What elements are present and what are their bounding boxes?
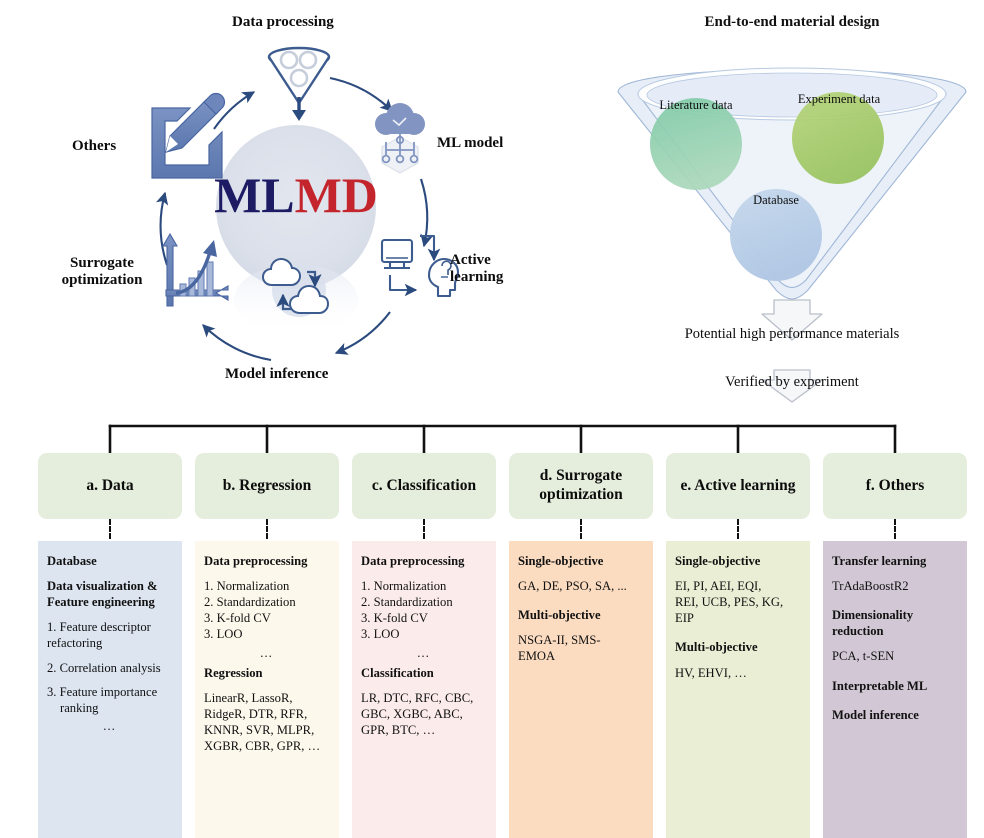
column-d-header[interactable]: d. Surrogate optimization	[509, 453, 653, 519]
column-c-body: Data preprocessing 1. Normalization 2. S…	[352, 541, 496, 838]
column-b-body: Data preprocessing 1. Normalization 2. S…	[195, 541, 339, 838]
column-f-heading-interpretable: Interpretable ML	[832, 678, 958, 694]
mlmd-cycle-panel: MLMD Data processing ML model Active lea…	[0, 0, 600, 412]
column-b-models-2: RidgeR, DTR, RFR,	[204, 706, 330, 722]
column-c-connector	[423, 519, 425, 539]
column-a-data[interactable]: a. Data Database Data visualization & Fe…	[38, 453, 182, 519]
column-a-heading-visualization: Data visualization & Feature engineering	[47, 578, 173, 610]
column-b-models-4: XGBR, CBR, GPR, …	[204, 738, 330, 754]
mlmd-md-text: MD	[295, 167, 378, 223]
column-a-item-3: 3. Feature importance	[47, 684, 173, 700]
column-c-prep-4: 3. LOO	[361, 626, 487, 642]
column-e-body: Single-objective EI, PI, AEI, EQI, REI, …	[666, 541, 810, 838]
mlmd-ml-text: ML	[214, 167, 295, 223]
cycle-label-ml-model: ML model	[437, 135, 503, 152]
column-c-classification[interactable]: c. Classification Data preprocessing 1. …	[352, 453, 496, 519]
column-f-heading-model-inference: Model inference	[832, 707, 958, 723]
column-e-single-1: EI, PI, AEI, EQI,	[675, 578, 801, 594]
optimization-curve-icon	[163, 234, 228, 306]
column-a-item-1: 1. Feature descriptor refactoring	[47, 619, 173, 651]
column-a-heading-database: Database	[47, 553, 173, 569]
column-c-header[interactable]: c. Classification	[352, 453, 496, 519]
column-c-heading-classification: Classification	[361, 665, 487, 681]
column-c-prep-2: 2. Standardization	[361, 594, 487, 610]
column-e-single-2: REI, UCB, PES, KG,	[675, 594, 801, 610]
column-e-active-learning[interactable]: e. Active learning Single-objective EI, …	[666, 453, 810, 519]
column-d-multi-list-1: NSGA-II, SMS-	[518, 632, 644, 648]
column-d-surrogate-optimization[interactable]: d. Surrogate optimization Single-objecti…	[509, 453, 653, 519]
end-to-end-design-panel: End-to-end material design	[600, 0, 984, 412]
funnel-graphic	[600, 32, 984, 412]
column-f-heading-transfer: Transfer learning	[832, 553, 958, 569]
column-b-heading-preprocessing: Data preprocessing	[204, 553, 330, 569]
column-a-header[interactable]: a. Data	[38, 453, 182, 519]
column-b-connector	[266, 519, 268, 539]
funnel-caption-potential-materials: Potential high performance materials	[600, 326, 984, 343]
column-d-heading-multi: Multi-objective	[518, 607, 644, 623]
column-b-header[interactable]: b. Regression	[195, 453, 339, 519]
column-b-regression[interactable]: b. Regression Data preprocessing 1. Norm…	[195, 453, 339, 519]
column-a-connector	[109, 519, 111, 539]
column-a-body: Database Data visualization & Feature en…	[38, 541, 182, 838]
column-d-body: Single-objective GA, DE, PSO, SA, ... Mu…	[509, 541, 653, 838]
column-e-multi-list: HV, EHVI, …	[675, 665, 801, 681]
column-d-connector	[580, 519, 582, 539]
column-c-prep-3: 3. K-fold CV	[361, 610, 487, 626]
funnel-label-database: Database	[724, 193, 828, 208]
cycle-label-others: Others	[72, 138, 116, 155]
column-c-models-2: GBC, XGBC, ABC,	[361, 706, 487, 722]
column-b-models-3: KNNR, SVR, MLPR,	[204, 722, 330, 738]
column-f-transfer-list: TrAdaBoostR2	[832, 578, 958, 594]
column-e-single-3: EIP	[675, 610, 801, 626]
funnel-title: End-to-end material design	[600, 14, 984, 31]
column-d-multi-list-2: EMOA	[518, 648, 644, 664]
column-f-others[interactable]: f. Others Transfer learning TrAdaBoostR2…	[823, 453, 967, 519]
column-f-heading-dimensionality: Dimensionality reduction	[832, 607, 958, 639]
column-a-item-3-cont: ranking	[47, 700, 173, 716]
column-b-prep-4: 3. LOO	[204, 626, 330, 642]
column-a-item-2: 2. Correlation analysis	[47, 660, 173, 676]
funnel-icon	[269, 48, 329, 121]
column-f-connector	[894, 519, 896, 539]
funnel-label-experiment-data: Experiment data	[785, 92, 893, 107]
mlmd-wordmark: MLMD	[196, 166, 396, 224]
column-d-heading-single: Single-objective	[518, 553, 644, 569]
cycle-label-model-inference: Model inference	[225, 366, 328, 383]
column-b-prep-1: 1. Normalization	[204, 578, 330, 594]
column-b-ellipsis: …	[204, 645, 330, 661]
funnel-caption-verified-experiment: Verified by experiment	[600, 374, 984, 391]
column-b-heading-regression: Regression	[204, 665, 330, 681]
column-c-prep-1: 1. Normalization	[361, 578, 487, 594]
column-e-heading-single: Single-objective	[675, 553, 801, 569]
column-b-models-1: LinearR, LassoR,	[204, 690, 330, 706]
funnel-label-literature-data: Literature data	[642, 98, 750, 113]
column-f-header[interactable]: f. Others	[823, 453, 967, 519]
cycle-label-active-learning: Active learning	[450, 252, 534, 287]
module-columns: a. Data Database Data visualization & Fe…	[0, 412, 984, 823]
cloud-network-icon	[375, 103, 425, 173]
cycle-label-surrogate-optimization: Surrogate optimization	[48, 255, 156, 290]
column-c-ellipsis: …	[361, 645, 487, 661]
cycle-label-data-processing: Data processing	[232, 14, 334, 31]
column-c-heading-preprocessing: Data preprocessing	[361, 553, 487, 569]
column-c-models-3: GPR, BTC, …	[361, 722, 487, 738]
column-b-prep-2: 2. Standardization	[204, 594, 330, 610]
column-a-ellipsis: …	[47, 718, 173, 734]
column-b-prep-3: 3. K-fold CV	[204, 610, 330, 626]
column-c-models-1: LR, DTC, RFC, CBC,	[361, 690, 487, 706]
column-e-header[interactable]: e. Active learning	[666, 453, 810, 519]
column-d-single-list: GA, DE, PSO, SA, ...	[518, 578, 644, 594]
column-f-body: Transfer learning TrAdaBoostR2 Dimension…	[823, 541, 967, 838]
column-e-heading-multi: Multi-objective	[675, 639, 801, 655]
column-f-dim-list: PCA, t-SEN	[832, 648, 958, 664]
column-e-connector	[737, 519, 739, 539]
monitor-human-loop-icon	[382, 236, 458, 296]
